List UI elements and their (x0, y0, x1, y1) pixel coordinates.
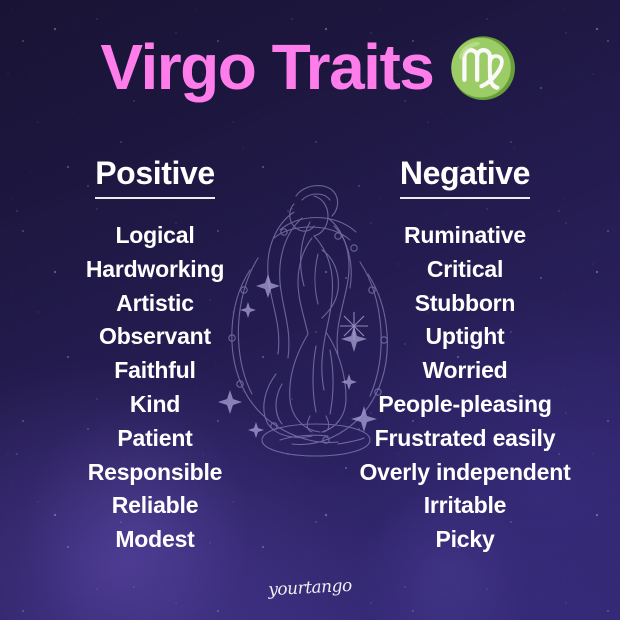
list-item: Hardworking (0, 253, 310, 287)
list-item: Faithful (0, 354, 310, 388)
list-item: Overly independent (310, 456, 620, 490)
list-item: Stubborn (310, 287, 620, 321)
list-item: People-pleasing (310, 388, 620, 422)
list-item: Frustrated easily (310, 422, 620, 456)
positive-traits-column: Positive Logical Hardworking Artistic Ob… (0, 0, 310, 620)
list-item: Critical (310, 253, 620, 287)
list-item: Ruminative (310, 219, 620, 253)
traits-columns: Positive Logical Hardworking Artistic Ob… (0, 0, 620, 620)
list-item: Uptight (310, 320, 620, 354)
list-item: Observant (0, 320, 310, 354)
list-item: Artistic (0, 287, 310, 321)
list-item: Reliable (0, 489, 310, 523)
negative-column-heading: Negative (400, 157, 530, 199)
negative-trait-list: Ruminative Critical Stubborn Uptight Wor… (310, 219, 620, 557)
list-item: Patient (0, 422, 310, 456)
list-item: Picky (310, 523, 620, 557)
list-item: Responsible (0, 456, 310, 490)
list-item: Modest (0, 523, 310, 557)
virgo-traits-poster: Virgo Traits ♍ (0, 0, 620, 620)
negative-traits-column: Negative Ruminative Critical Stubborn Up… (310, 0, 620, 620)
list-item: Logical (0, 219, 310, 253)
list-item: Irritable (310, 489, 620, 523)
positive-column-heading: Positive (95, 157, 215, 199)
list-item: Kind (0, 388, 310, 422)
list-item: Worried (310, 354, 620, 388)
positive-trait-list: Logical Hardworking Artistic Observant F… (0, 219, 310, 557)
